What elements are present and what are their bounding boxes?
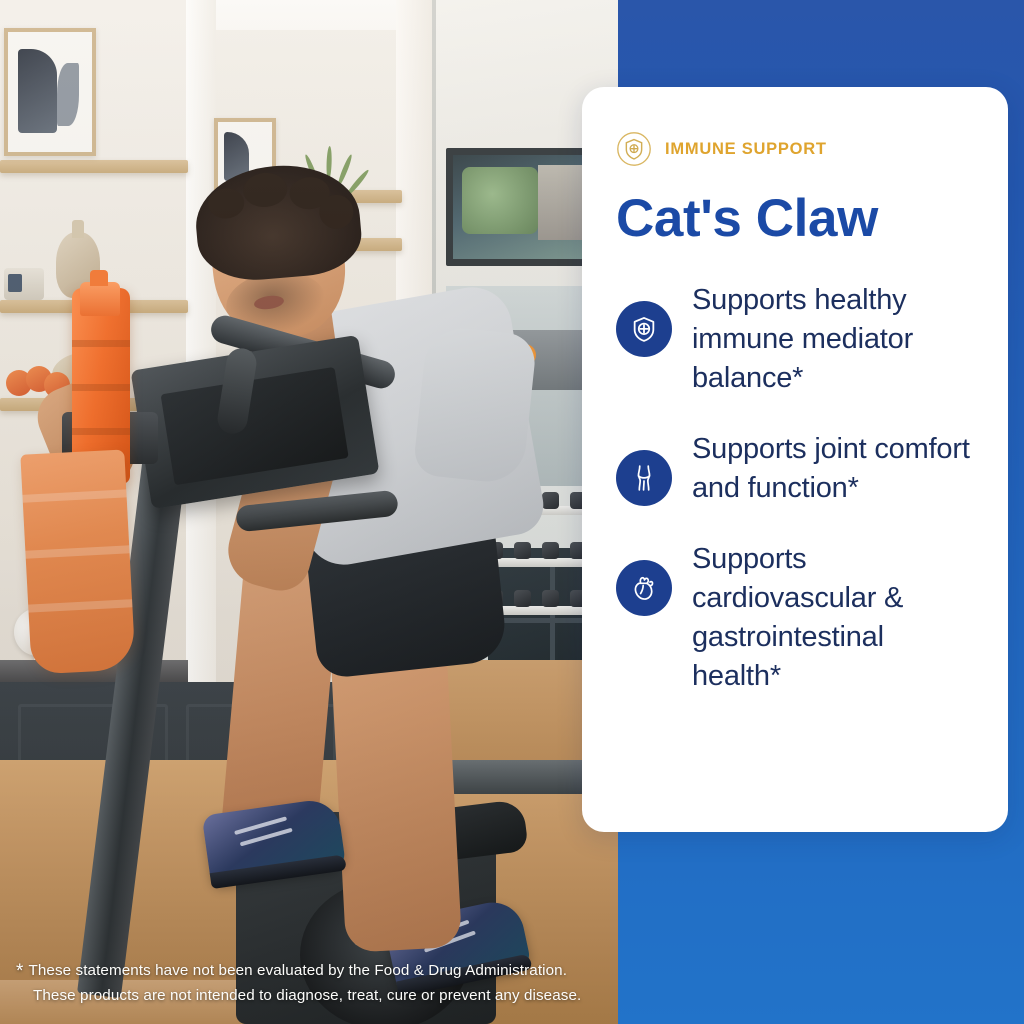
category-eyebrow: IMMUNE SUPPORT: [616, 131, 974, 167]
disclaimer-line-one: These statements have not been evaluated…: [29, 962, 568, 979]
benefit-row: Supports healthy immune mediator balance…: [616, 281, 974, 398]
fda-disclaimer: *These statements have not been evaluate…: [16, 958, 612, 1008]
knee-joint-bone-icon: [616, 450, 672, 506]
benefit-text: Supports joint comfort and function*: [692, 430, 974, 508]
benefit-row: Supports joint comfort and function*: [616, 430, 974, 508]
category-label: IMMUNE SUPPORT: [665, 140, 827, 159]
photo-tint-overlay: [0, 0, 618, 1024]
shield-check-badge-icon: [616, 131, 652, 167]
benefit-row: Supports cardiovascular & gastrointestin…: [616, 540, 974, 696]
shield-medical-cross-icon: [616, 301, 672, 357]
benefit-text: Supports cardiovascular & gastrointestin…: [692, 540, 974, 696]
anatomical-heart-icon: [616, 560, 672, 616]
hero-photo: [0, 0, 618, 1024]
benefit-text: Supports healthy immune mediator balance…: [692, 281, 974, 398]
infographic-canvas: *These statements have not been evaluate…: [0, 0, 1024, 1024]
page-title: Cat's Claw: [616, 191, 974, 247]
product-info-card: IMMUNE SUPPORT Cat's Claw Supports healt…: [582, 87, 1008, 832]
asterisk-marker: *: [16, 961, 24, 982]
disclaimer-line-two: These products are not intended to diagn…: [16, 983, 612, 1008]
